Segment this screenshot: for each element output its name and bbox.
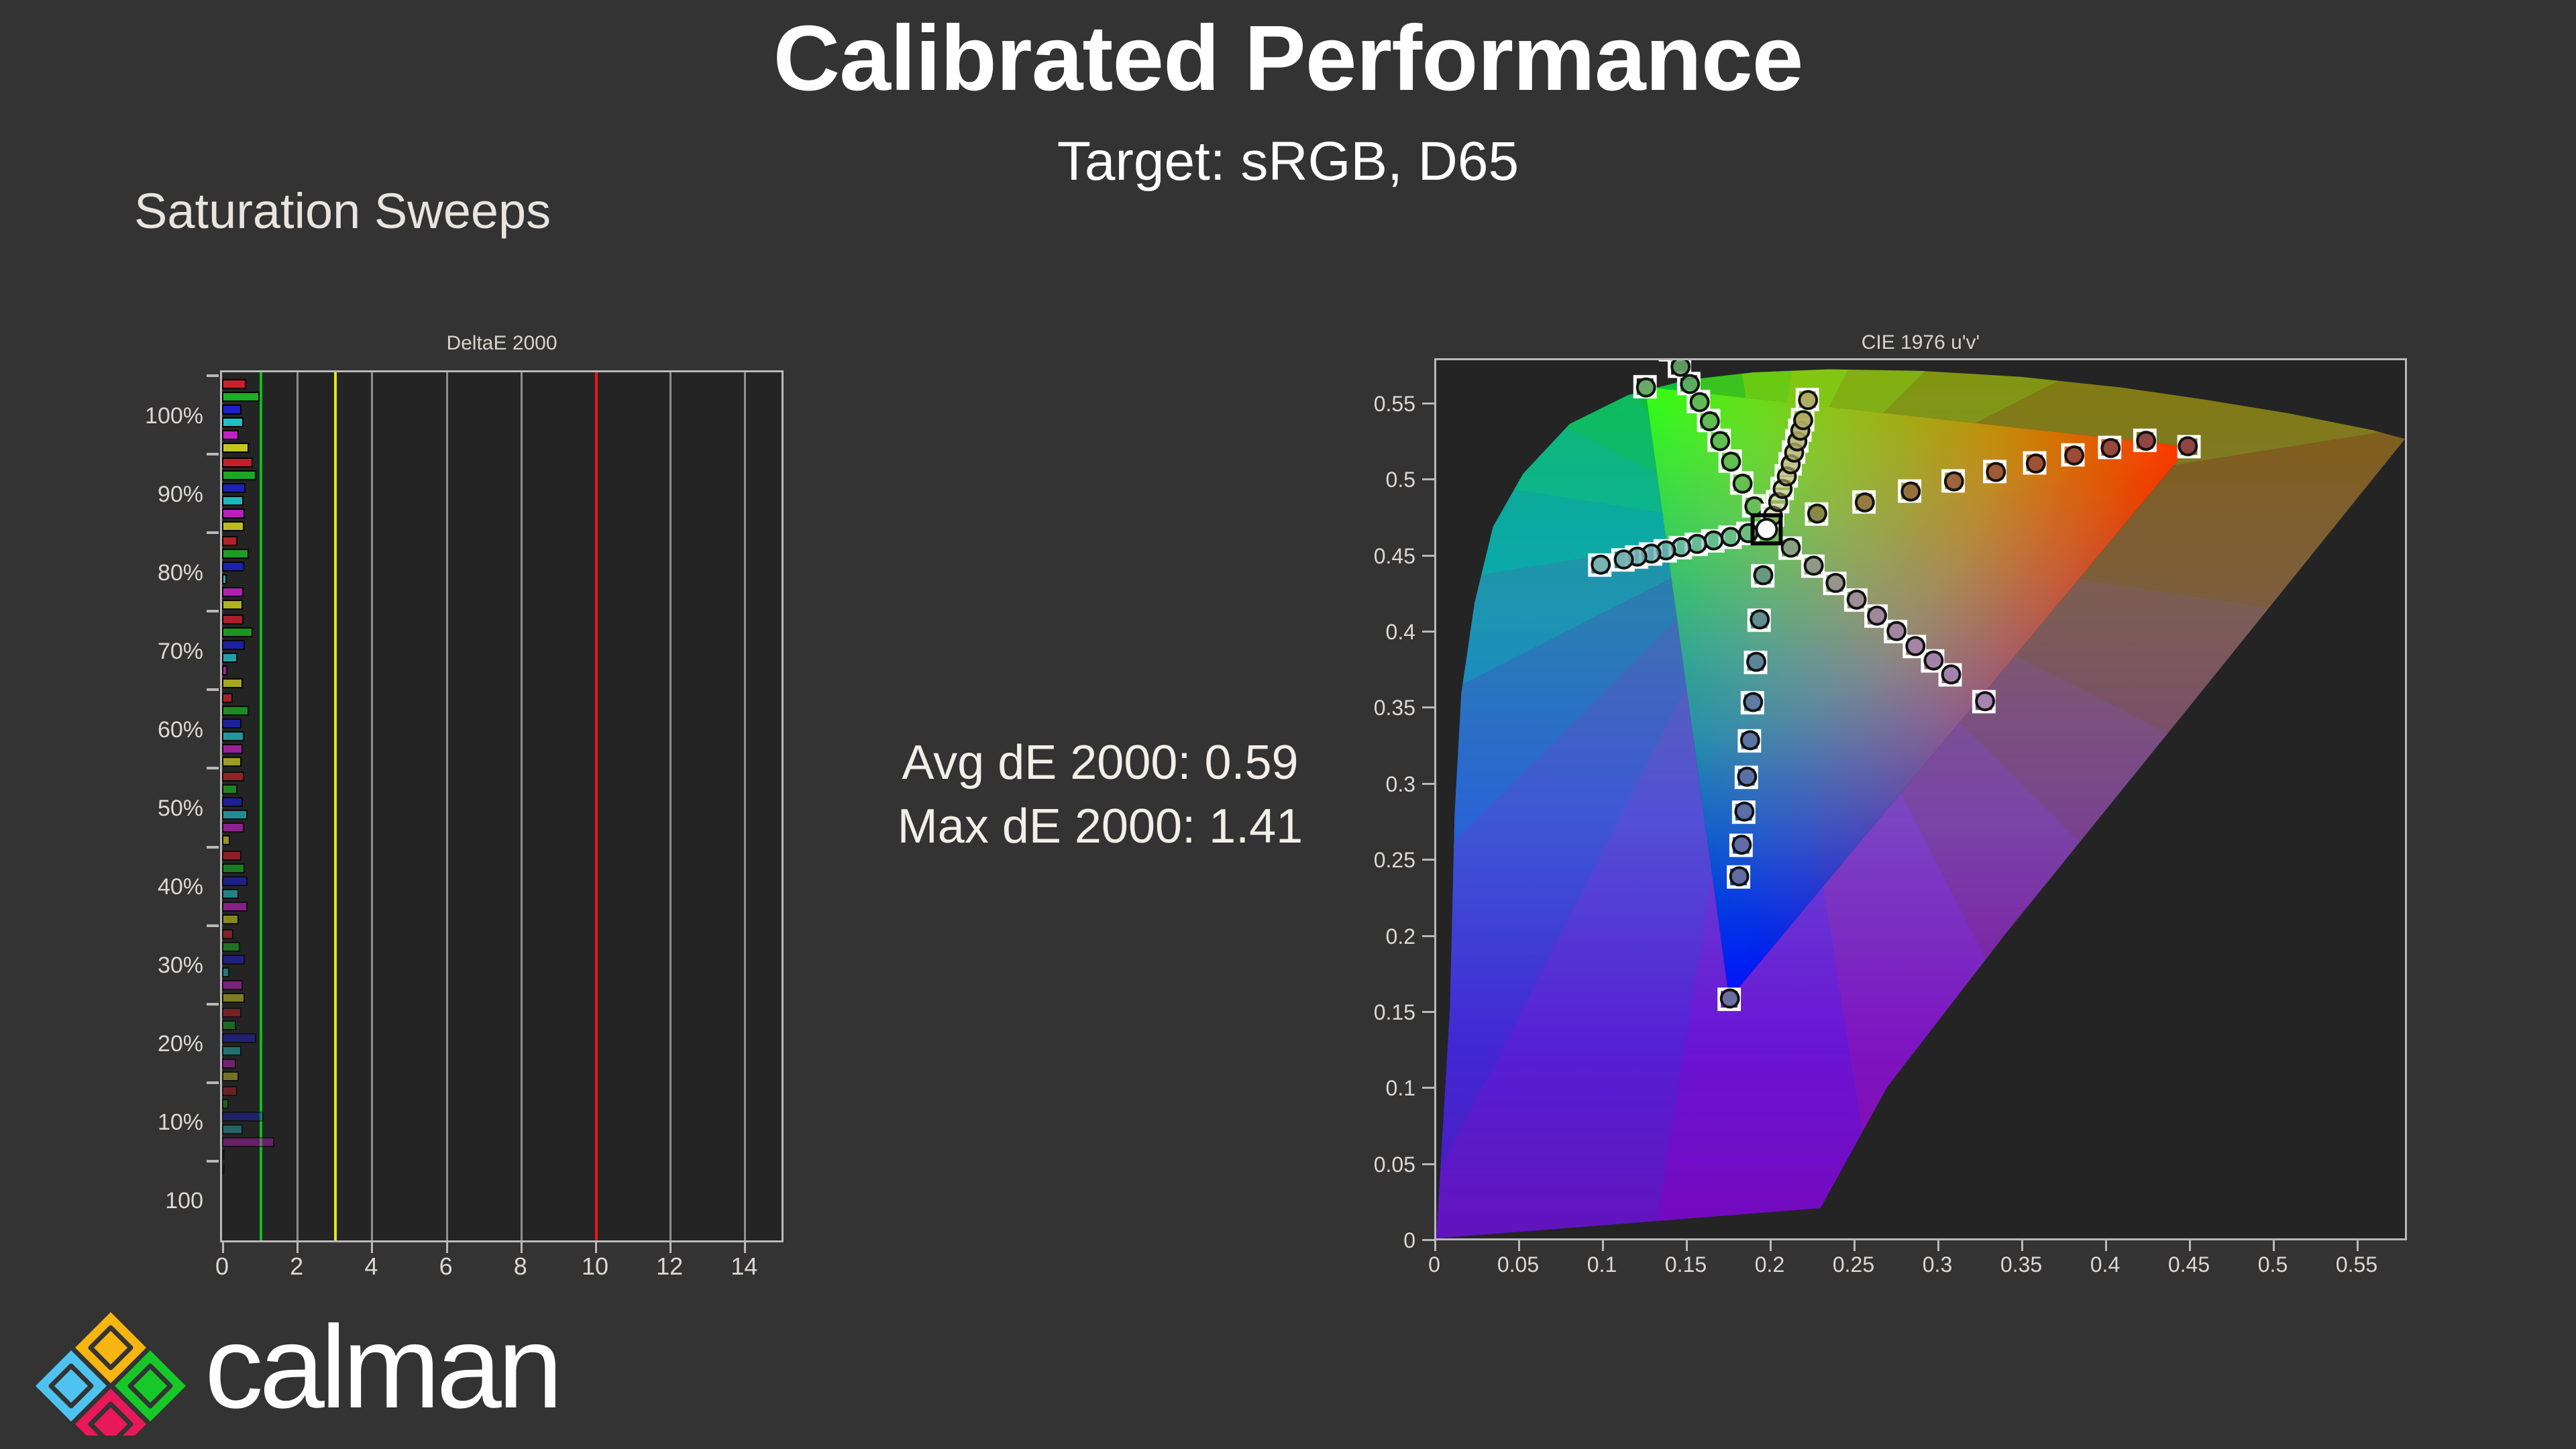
measured-marker — [1741, 732, 1759, 749]
deltae-bar — [222, 614, 244, 625]
deltae-bar — [222, 1086, 237, 1096]
measured-marker — [1734, 475, 1752, 492]
cie-y-tick-mark — [1422, 1163, 1434, 1165]
deltae-x-tick-mark — [669, 1242, 672, 1253]
cie-y-tick-mark — [1422, 1239, 1434, 1241]
cie-y-tick-label: 0.35 — [1342, 697, 1415, 718]
deltae-gridline — [297, 372, 299, 1240]
deltae-x-tick-label: 4 — [344, 1254, 398, 1279]
cie-x-tick-label: 0.05 — [1481, 1254, 1555, 1275]
deltae-bar — [222, 574, 227, 584]
cie-y-tick-label: 0 — [1342, 1230, 1415, 1251]
deltae-bar — [222, 1124, 243, 1134]
cie-y-tick-mark — [1422, 706, 1434, 708]
deltae-bar — [222, 392, 260, 402]
deltae-x-tick-mark — [446, 1242, 448, 1253]
cie-y-tick-mark — [1422, 1011, 1434, 1013]
measured-marker — [1722, 453, 1739, 470]
cie-y-tick-label: 0.45 — [1342, 545, 1415, 567]
measured-marker — [1943, 665, 1960, 683]
measured-marker — [1592, 556, 1609, 574]
deltae-bar — [222, 1059, 236, 1069]
measured-marker — [2102, 439, 2119, 457]
cie-y-tick-label: 0.4 — [1342, 621, 1415, 643]
deltae-bar — [222, 993, 245, 1003]
deltae-bar — [222, 640, 245, 650]
deltae-y-tick-label: 80% — [109, 561, 203, 584]
measured-marker — [1681, 375, 1699, 392]
calman-wordmark: calman — [205, 1309, 559, 1426]
deltae-bar — [222, 1165, 225, 1175]
cie-x-tick-label: 0.2 — [1733, 1254, 1807, 1275]
deltae-bar — [222, 942, 240, 952]
measured-marker — [1782, 539, 1800, 556]
deltae-y-tick-mark — [207, 374, 219, 377]
deltae-x-tick-label: 6 — [419, 1254, 473, 1279]
deltae-y-tick-label: 90% — [109, 483, 203, 506]
measured-marker — [1945, 473, 1963, 490]
deltae-y-tick-label: 30% — [109, 954, 203, 977]
cie-y-tick-mark — [1422, 555, 1434, 557]
measured-marker — [1856, 494, 1874, 511]
deltae-y-tick-label: 100 — [109, 1189, 203, 1212]
measured-marker — [1868, 607, 1886, 625]
deltae-bar — [222, 851, 241, 861]
deltae-bar — [222, 470, 256, 480]
measured-marker — [1748, 653, 1765, 671]
page-title: Calibrated Performance — [0, 12, 2576, 105]
deltae-bar — [222, 1033, 256, 1043]
measured-marker — [2137, 432, 2155, 449]
cie-chart-plot — [1434, 358, 2407, 1240]
cie-x-tick-mark — [1770, 1240, 1772, 1251]
deltae-gridline — [521, 372, 523, 1240]
page-subtitle: Target: sRGB, D65 — [0, 134, 2576, 189]
deltae-y-tick-label: 20% — [109, 1032, 203, 1055]
cie-x-tick-mark — [1434, 1240, 1436, 1251]
measured-marker — [1746, 498, 1763, 515]
deltae-bar — [222, 587, 244, 597]
avg-de-value: Avg dE 2000: 0.59 — [852, 731, 1348, 795]
deltae-bar — [222, 955, 245, 965]
cie-y-tick-mark — [1422, 631, 1434, 633]
cie-diagram — [1436, 360, 2405, 1238]
deltae-bar — [222, 810, 248, 820]
cie-x-tick-label: 0.55 — [2320, 1254, 2394, 1275]
deltae-bar — [222, 496, 244, 506]
deltae-x-tick-mark — [744, 1242, 746, 1253]
summary-stats: Avg dE 2000: 0.59 Max dE 2000: 1.41 — [852, 731, 1348, 859]
measured-marker — [2065, 447, 2083, 464]
deltae-bar — [222, 417, 244, 427]
cie-x-tick-label: 0.35 — [1984, 1254, 2058, 1275]
deltae-green-threshold — [260, 372, 262, 1240]
deltae-y-tick-mark — [207, 1160, 219, 1163]
measured-marker — [1987, 464, 2004, 481]
cie-y-tick-label: 0.15 — [1342, 1002, 1415, 1023]
cie-x-tick-mark — [1854, 1240, 1856, 1251]
cie-y-tick-mark — [1422, 402, 1434, 405]
deltae-bar — [222, 1071, 239, 1081]
cie-x-tick-label: 0.25 — [1817, 1254, 1890, 1275]
deltae-x-tick-mark — [371, 1242, 373, 1253]
measured-marker — [1794, 411, 1812, 429]
cie-x-tick-label: 0.3 — [1900, 1254, 1974, 1275]
deltae-gridline — [744, 372, 746, 1240]
deltae-x-tick-label: 2 — [270, 1254, 323, 1279]
deltae-bar — [222, 706, 249, 716]
deltae-bar — [222, 458, 253, 468]
deltae-bar — [222, 902, 248, 912]
measured-marker — [1615, 551, 1633, 568]
deltae-bar — [222, 731, 244, 741]
measured-marker — [1799, 391, 1817, 409]
deltae-bar — [222, 536, 237, 546]
cie-y-tick-mark — [1422, 859, 1434, 861]
measured-marker — [1805, 557, 1823, 574]
deltae-bar — [222, 521, 244, 531]
cie-y-tick-label: 0.5 — [1342, 469, 1415, 490]
measured-marker — [1744, 694, 1762, 711]
measured-marker — [1711, 433, 1729, 450]
deltae-bar — [222, 967, 229, 977]
cie-y-tick-mark — [1422, 783, 1434, 785]
deltae-bar — [222, 508, 245, 519]
measured-marker — [1907, 637, 1924, 655]
cie-x-tick-mark — [2021, 1240, 2023, 1251]
deltae-bar — [222, 914, 239, 924]
deltae-red-threshold — [595, 372, 598, 1240]
deltae-y-tick-mark — [207, 688, 219, 691]
measured-marker — [1755, 567, 1772, 584]
deltae-bar — [222, 757, 241, 767]
cie-x-tick-mark — [2189, 1240, 2191, 1251]
cie-x-tick-label: 0.45 — [2152, 1254, 2226, 1275]
deltae-y-tick-label: 50% — [109, 797, 203, 820]
cie-x-tick-label: 0.4 — [2068, 1254, 2142, 1275]
deltae-bar — [222, 405, 241, 415]
deltae-bar — [222, 784, 237, 794]
deltae-bar — [222, 718, 241, 729]
cie-y-tick-label: 0.25 — [1342, 849, 1415, 871]
measured-marker — [1751, 610, 1768, 628]
cie-x-tick-mark — [2105, 1240, 2107, 1251]
deltae-bar — [222, 693, 233, 703]
deltae-gridline — [371, 372, 373, 1240]
deltae-bar — [222, 561, 244, 572]
measured-marker — [1638, 379, 1655, 396]
measured-marker — [2179, 437, 2196, 455]
report-canvas: Calibrated Performance Target: sRGB, D65… — [0, 0, 2576, 1449]
cie-y-tick-label: 0.55 — [1342, 393, 1415, 415]
measured-marker — [1827, 574, 1844, 592]
deltae-bar — [222, 665, 227, 676]
deltae-bar — [222, 1150, 225, 1160]
deltae-x-tick-label: 12 — [643, 1254, 696, 1279]
deltae-y-tick-mark — [207, 767, 219, 769]
deltae-bar — [222, 744, 243, 754]
section-title: Saturation Sweeps — [134, 186, 551, 236]
deltae-bar — [222, 443, 249, 453]
deltae-x-tick-mark — [521, 1242, 523, 1253]
deltae-chart-plot — [220, 370, 784, 1242]
calman-logo: calman — [27, 1305, 664, 1439]
deltae-gridline — [446, 372, 448, 1240]
cie-x-tick-mark — [2273, 1240, 2275, 1251]
measured-marker — [1738, 768, 1756, 786]
deltae-y-tick-mark — [207, 846, 219, 849]
deltae-x-tick-mark — [297, 1242, 299, 1253]
measured-marker — [1809, 505, 1826, 523]
deltae-x-tick-label: 8 — [494, 1254, 547, 1279]
cie-x-tick-mark — [1518, 1240, 1520, 1251]
measured-marker — [1705, 532, 1723, 549]
deltae-bar — [222, 889, 239, 899]
deltae-x-tick-label: 0 — [195, 1254, 249, 1279]
cie-y-tick-label: 0.05 — [1342, 1154, 1415, 1175]
cie-y-tick-mark — [1422, 478, 1434, 480]
deltae-bar — [222, 1137, 274, 1147]
deltae-y-tick-label: 70% — [109, 640, 203, 663]
deltae-bar — [222, 822, 244, 833]
deltae-y-tick-label: 100% — [109, 405, 203, 427]
measured-marker — [1733, 836, 1750, 853]
deltae-bar — [222, 627, 253, 637]
cie-x-tick-mark — [1602, 1240, 1604, 1251]
measured-marker — [2027, 455, 2045, 472]
cie-y-tick-label: 0.2 — [1342, 926, 1415, 947]
deltae-x-tick-mark — [595, 1242, 597, 1253]
deltae-bar — [222, 678, 243, 688]
deltae-bar — [222, 835, 230, 845]
deltae-bar — [222, 980, 243, 990]
deltae-bar — [222, 549, 249, 559]
deltae-bar — [222, 1008, 241, 1018]
measured-marker — [1688, 535, 1706, 553]
deltae-bar — [222, 600, 243, 610]
deltae-y-tick-label: 40% — [109, 875, 203, 898]
cie-chart-title: CIE 1976 u'v' — [1434, 333, 2407, 353]
deltae-bar — [222, 1112, 264, 1122]
deltae-y-tick-mark — [207, 1003, 219, 1006]
calman-diamond-icon — [27, 1305, 195, 1436]
measured-marker — [1701, 413, 1719, 430]
measured-marker — [1672, 360, 1689, 376]
deltae-bar — [222, 1020, 236, 1030]
deltae-x-tick-label: 14 — [717, 1254, 771, 1279]
measured-marker — [1721, 990, 1739, 1008]
deltae-bar — [222, 863, 245, 873]
deltae-bar — [222, 430, 239, 440]
deltae-bar — [222, 771, 244, 782]
deltae-bar — [222, 797, 243, 807]
deltae-y-tick-mark — [207, 610, 219, 612]
deltae-bar — [222, 653, 237, 663]
cie-y-tick-mark — [1422, 935, 1434, 937]
cie-x-tick-mark — [1937, 1240, 1939, 1251]
measured-marker — [1691, 394, 1709, 411]
deltae-y-tick-label: 60% — [109, 718, 203, 741]
deltae-yellow-threshold — [334, 372, 337, 1240]
deltae-bar — [222, 483, 246, 493]
cie-x-tick-label: 0.1 — [1565, 1254, 1639, 1275]
deltae-y-tick-label: 10% — [109, 1111, 203, 1134]
deltae-bar — [222, 876, 248, 886]
max-de-value: Max dE 2000: 1.41 — [852, 795, 1348, 859]
cie-x-tick-label: 0.15 — [1649, 1254, 1723, 1275]
deltae-y-tick-mark — [207, 453, 219, 455]
measured-marker — [1731, 867, 1748, 885]
deltae-chart-title: DeltaE 2000 — [220, 333, 784, 354]
deltae-gridline — [669, 372, 672, 1240]
measured-marker — [1888, 623, 1905, 640]
cie-x-tick-label: 0 — [1397, 1254, 1471, 1275]
cie-y-tick-label: 0.1 — [1342, 1077, 1415, 1099]
measured-marker — [1848, 591, 1866, 608]
deltae-bar — [222, 379, 246, 389]
measured-marker — [1722, 528, 1739, 545]
measured-marker — [1925, 652, 1942, 669]
cie-x-tick-label: 0.5 — [2236, 1254, 2310, 1275]
deltae-x-tick-mark — [222, 1242, 224, 1253]
cie-y-tick-label: 0.3 — [1342, 773, 1415, 795]
deltae-bar — [222, 1046, 241, 1056]
deltae-bar — [222, 1099, 229, 1109]
deltae-y-tick-mark — [207, 924, 219, 927]
deltae-y-tick-mark — [207, 1081, 219, 1084]
deltae-y-tick-mark — [207, 531, 219, 534]
cie-y-tick-mark — [1422, 1087, 1434, 1089]
measured-marker — [1976, 692, 1994, 710]
deltae-bar — [222, 929, 233, 939]
cie-x-tick-mark — [2357, 1240, 2359, 1251]
cie-x-tick-mark — [1686, 1240, 1688, 1251]
measured-marker — [1902, 483, 1919, 500]
measured-marker — [1735, 803, 1753, 820]
white-point-measured — [1757, 519, 1777, 539]
deltae-x-tick-label: 10 — [568, 1254, 622, 1279]
